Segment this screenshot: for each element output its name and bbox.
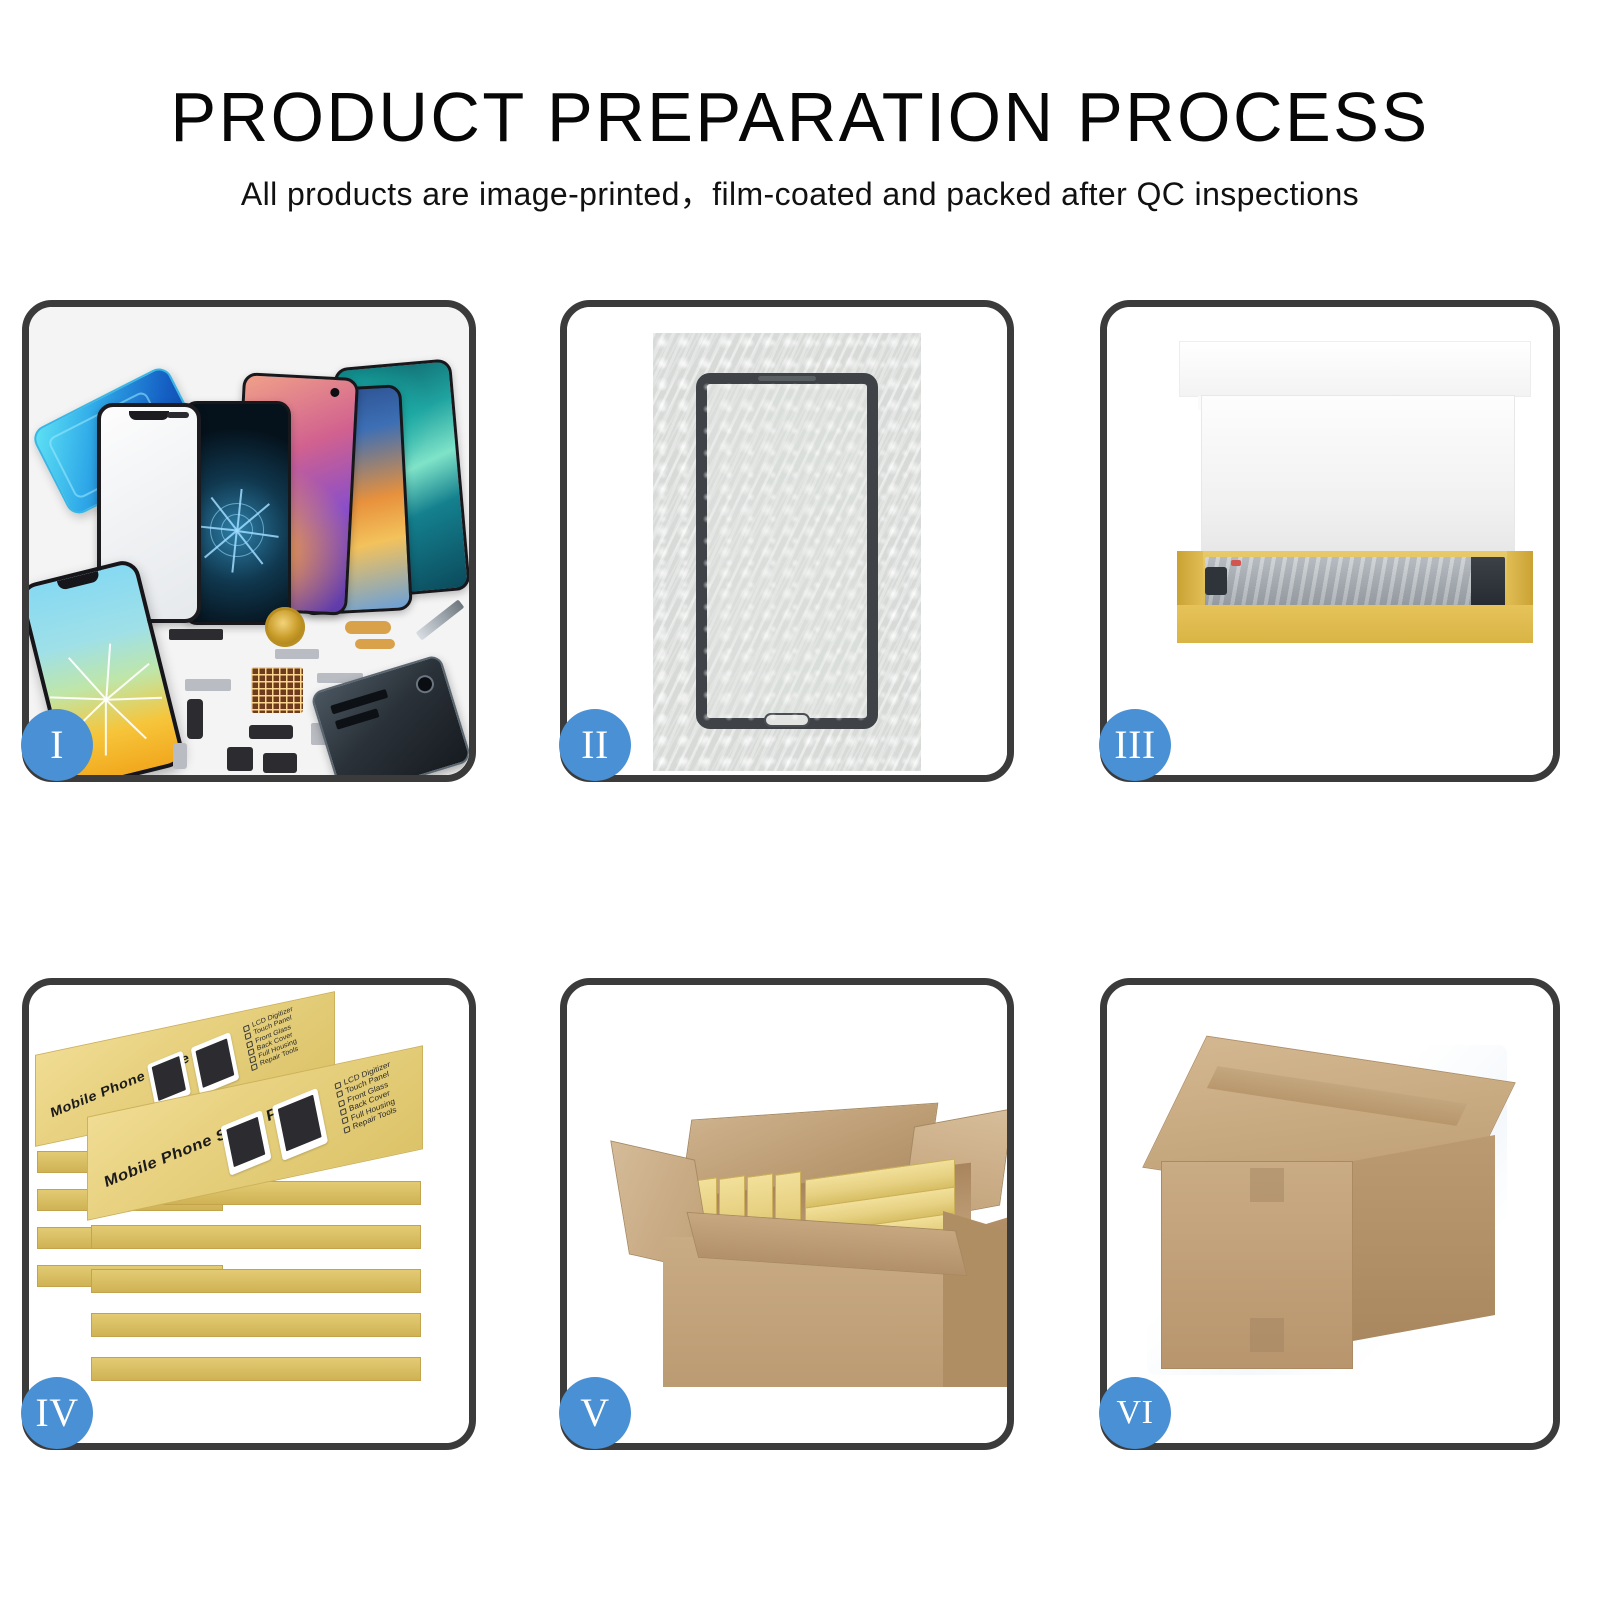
checkbox-icon xyxy=(251,1063,258,1071)
step-3-image xyxy=(1107,307,1553,775)
camera-dot-icon xyxy=(330,388,339,397)
step-badge-2: II xyxy=(559,709,631,781)
step-4-image: Mobile Phone Spare Parts LCD Digitizer T… xyxy=(29,985,469,1443)
box-side-face xyxy=(91,1313,421,1337)
glass-notch-graphic xyxy=(129,411,169,420)
glass-speaker-graphic xyxy=(167,412,189,418)
bubble-wrap-photo xyxy=(567,307,1007,775)
retail-box-side xyxy=(91,1225,421,1249)
part-sim-tray xyxy=(173,743,187,769)
step-badge-5: V xyxy=(559,1377,631,1449)
tray-front-wall-graphic xyxy=(1177,605,1533,643)
packed-screen-graphic xyxy=(1205,557,1505,607)
carton-right-face-graphic xyxy=(1353,1135,1495,1341)
box-lid-graphic xyxy=(1201,395,1515,555)
step-2-image xyxy=(567,307,1007,775)
wrapped-screen-graphic xyxy=(696,373,878,729)
retail-box-side xyxy=(91,1269,421,1293)
retail-box-side xyxy=(91,1313,421,1337)
part-bracket xyxy=(275,649,319,659)
step-panel-6: VI xyxy=(1100,978,1560,1450)
screen-marker-graphic xyxy=(1231,560,1241,566)
checkbox-icon xyxy=(343,1126,350,1134)
part-speaker xyxy=(227,747,253,771)
step-badge-6: VI xyxy=(1099,1377,1171,1449)
part-flex-cable-2 xyxy=(355,639,395,649)
box-tray-graphic xyxy=(1177,551,1533,643)
carton-flap-seam-graphic xyxy=(1250,1318,1284,1352)
retail-box-side xyxy=(91,1357,421,1381)
part-connector xyxy=(169,629,223,640)
step-5-image xyxy=(567,985,1007,1443)
part-flex-cable xyxy=(345,621,391,634)
filled-carton-photo xyxy=(567,985,1007,1443)
steps-grid: 08:08 xyxy=(0,0,1600,1600)
inner-box-photo xyxy=(1107,307,1553,775)
box-side-face xyxy=(91,1357,421,1381)
screen-connector-graphic xyxy=(1205,567,1227,595)
spare-parts-scatter-graphic xyxy=(169,607,469,775)
housing-slot-graphic xyxy=(330,689,388,715)
sealed-carton-photo xyxy=(1107,985,1553,1443)
box-side-face xyxy=(91,1225,421,1249)
step-panel-4: Mobile Phone Spare Parts LCD Digitizer T… xyxy=(22,978,476,1450)
earpiece-slot-graphic xyxy=(758,376,816,381)
step-badge-4: IV xyxy=(21,1377,93,1449)
step-6-image xyxy=(1107,985,1553,1443)
step-badge-3: III xyxy=(1099,709,1171,781)
part-shield xyxy=(185,679,231,691)
carton-left-face-graphic xyxy=(1161,1161,1353,1369)
carton-flap-seam-graphic xyxy=(1250,1168,1284,1202)
part-taptic xyxy=(263,753,297,773)
home-button-graphic xyxy=(764,713,810,727)
box-lid-back-graphic xyxy=(1179,341,1531,397)
step-panel-1: 08:08 xyxy=(22,300,476,782)
step-panel-5: V xyxy=(560,978,1014,1450)
bubble-film-graphic xyxy=(653,333,921,771)
step-panel-3: III xyxy=(1100,300,1560,782)
screen-edge-graphic xyxy=(1471,557,1505,607)
phone-back-housing-graphic xyxy=(310,654,469,775)
box-stack-graphic: Mobile Phone Spare Parts LCD Digitizer T… xyxy=(29,985,469,1443)
step-panel-2: II xyxy=(560,300,1014,782)
parts-photo: 08:08 xyxy=(29,307,469,775)
step-badge-1: I xyxy=(21,709,93,781)
step-1-image: 08:08 xyxy=(29,307,469,775)
box-side-face xyxy=(91,1269,421,1293)
part-button-flex xyxy=(187,699,203,739)
part-wireless-coil xyxy=(265,607,305,647)
retail-boxes-photo: Mobile Phone Spare Parts LCD Digitizer T… xyxy=(29,985,469,1443)
infographic-page: PRODUCT PREPARATION PROCESS All products… xyxy=(0,0,1600,1600)
camera-lens-icon xyxy=(414,673,436,695)
part-ic xyxy=(249,725,293,739)
part-chip-array xyxy=(251,667,303,713)
